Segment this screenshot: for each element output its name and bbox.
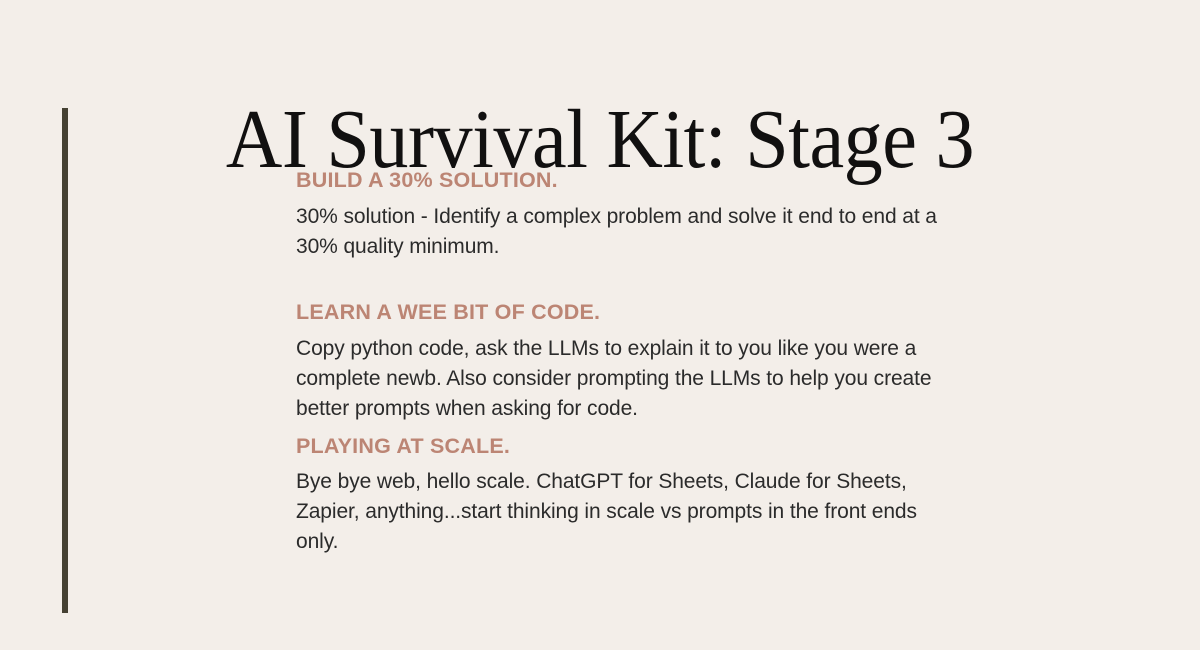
section-body: Copy python code, ask the LLMs to explai… [296,334,958,424]
section-playing-at-scale: PLAYING AT SCALE. Bye bye web, hello sca… [296,434,958,558]
section-body: 30% solution - Identify a complex proble… [296,202,958,262]
content-column: BUILD A 30% SOLUTION. 30% solution - Ide… [296,168,958,557]
section-build-a-30-percent-solution: BUILD A 30% SOLUTION. 30% solution - Ide… [296,168,958,262]
section-learn-a-wee-bit-of-code: LEARN A WEE BIT OF CODE. Copy python cod… [296,300,958,424]
section-heading: LEARN A WEE BIT OF CODE. [296,300,958,326]
left-accent-rule [62,108,68,613]
slide-canvas: AI Survival Kit: Stage 3 BUILD A 30% SOL… [0,0,1200,650]
section-heading: PLAYING AT SCALE. [296,434,958,460]
section-heading: BUILD A 30% SOLUTION. [296,168,958,194]
section-body: Bye bye web, hello scale. ChatGPT for Sh… [296,467,958,557]
